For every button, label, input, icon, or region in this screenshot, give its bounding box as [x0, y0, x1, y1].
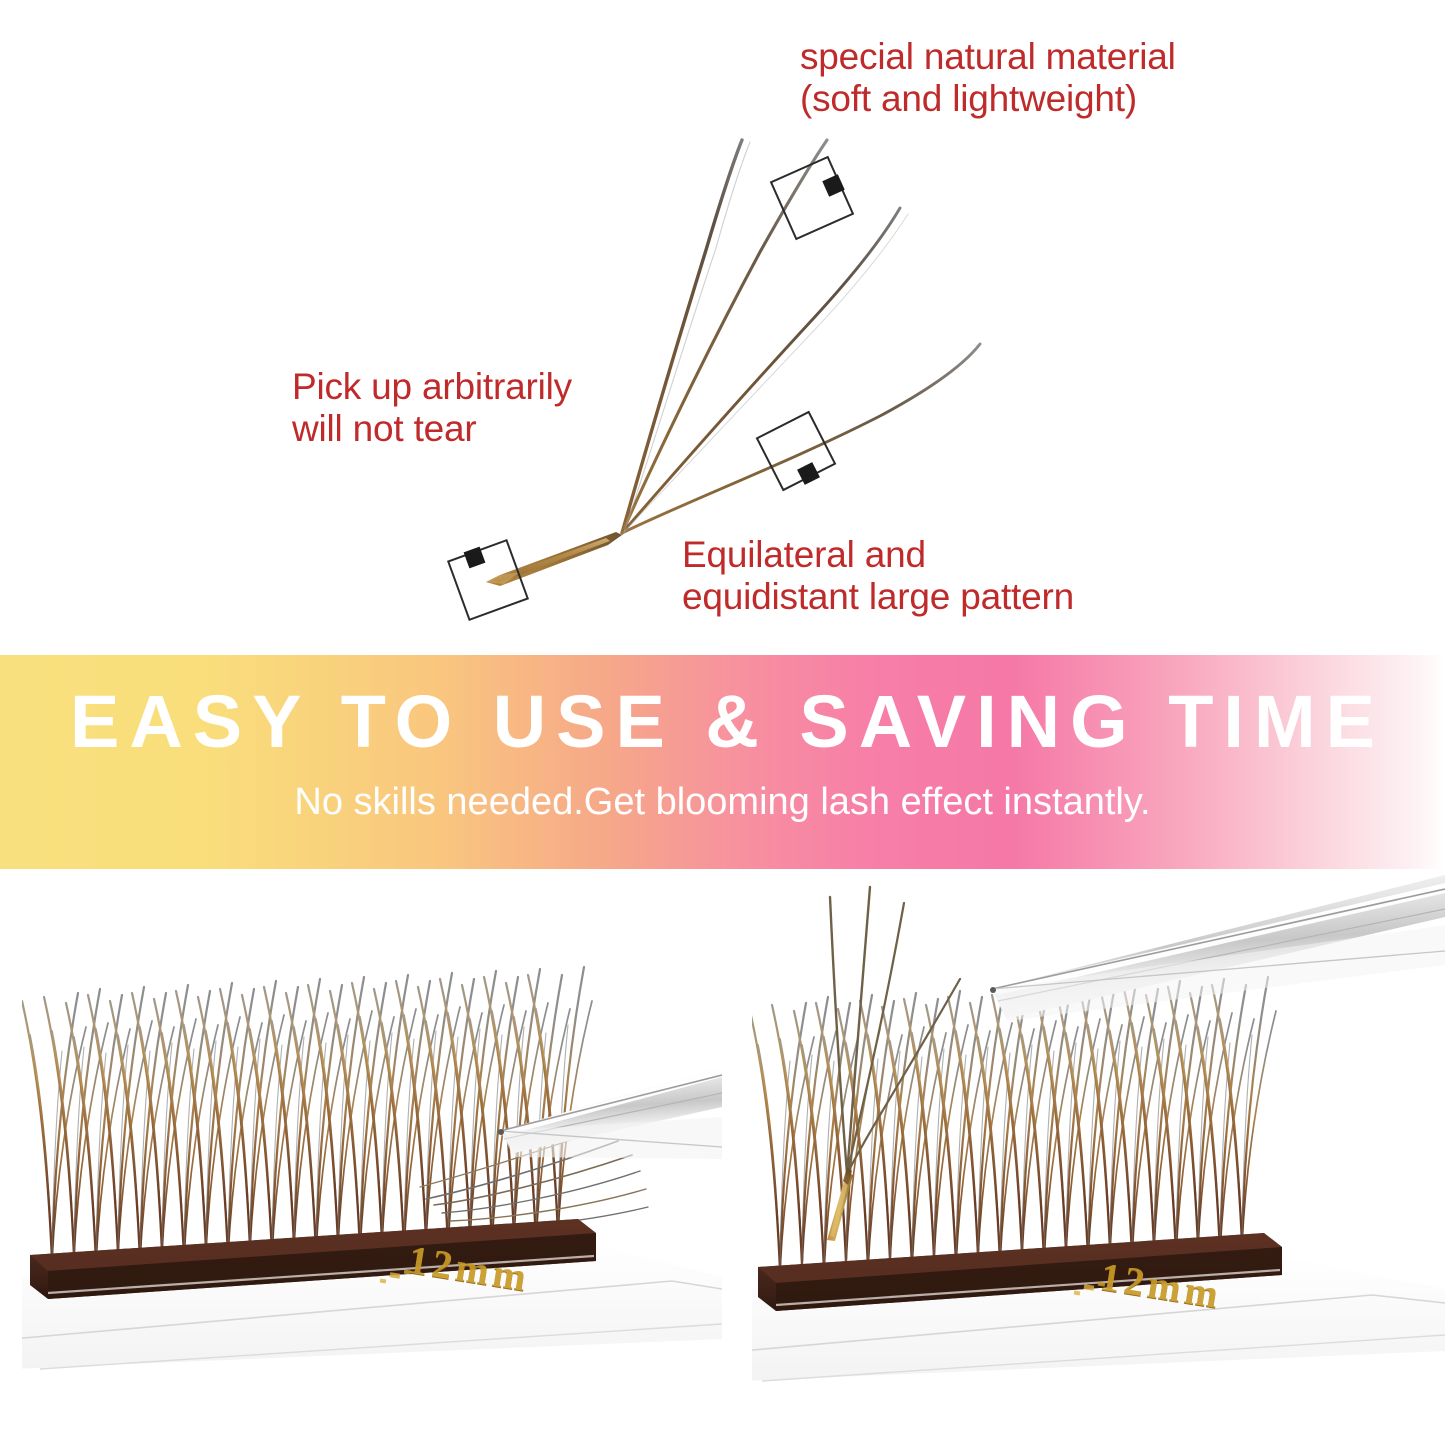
bottom-photo-section [0, 869, 1445, 1445]
lash-fiber-field [752, 977, 1276, 1271]
headline-banner: EASY TO USE & SAVING TIME No skills need… [0, 655, 1445, 869]
photo-lash-tray-fan-lifted [752, 869, 1445, 1445]
callout-marker-material [771, 157, 853, 239]
banner-title: EASY TO USE & SAVING TIME [0, 685, 1445, 759]
top-feature-section: special natural material (soft and light… [0, 0, 1445, 655]
lash-tray-left-graphic [22, 869, 722, 1445]
product-feature-page: special natural material (soft and light… [0, 0, 1445, 1445]
lash-fiber-field [22, 967, 592, 1263]
tweezer [990, 875, 1445, 1021]
lash-tray-right-graphic [752, 869, 1445, 1445]
callout-marker-equilateral [757, 412, 835, 490]
photo-lash-tray-with-tweezer [22, 869, 722, 1445]
callout-equilateral-equidistant: Equilateral and equidistant large patter… [682, 534, 1074, 618]
banner-subtitle: No skills needed.Get blooming lash effec… [0, 783, 1445, 821]
callout-special-natural-material: special natural material (soft and light… [800, 36, 1176, 120]
callout-marker-pickup [448, 540, 527, 619]
callout-pick-up-arbitrarily: Pick up arbitrarily will not tear [292, 366, 572, 450]
